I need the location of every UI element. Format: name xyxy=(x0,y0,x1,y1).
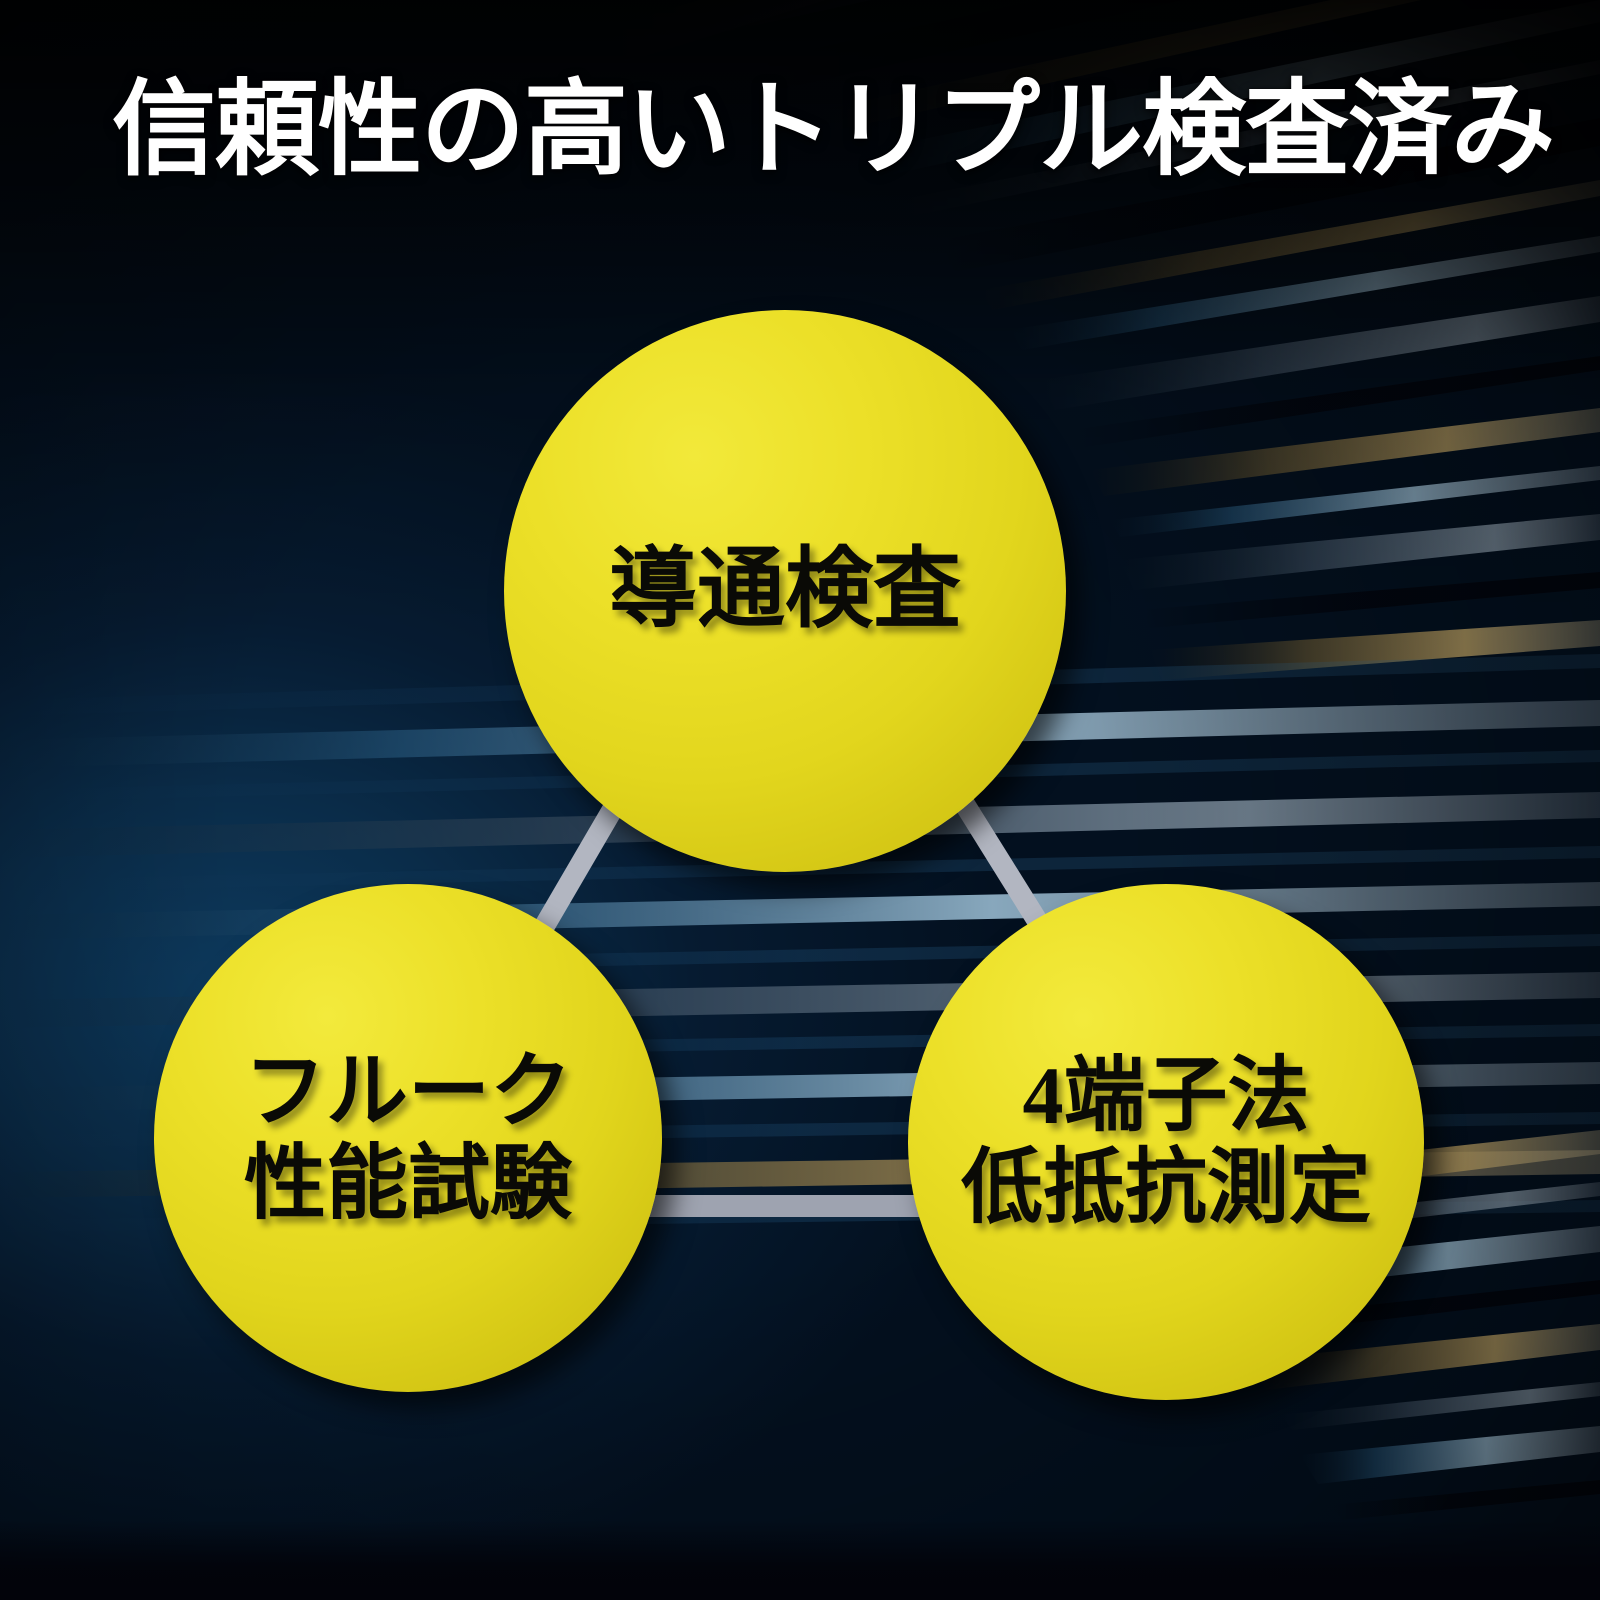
node-label-top: 導通検査 xyxy=(601,542,969,641)
node-label-right-line-2: 低抵抗測定 xyxy=(961,1142,1371,1234)
node-label-left: フルーク 性能試験 xyxy=(236,1046,580,1230)
poster-canvas: 信頼性の高いトリプル検査済み 導通検査 フルーク 性能試験 4端子法 低抵抗測定 xyxy=(0,0,1600,1600)
node-label-right-line-1: 4端子法 xyxy=(961,1050,1371,1142)
node-label-left-line-1: フルーク xyxy=(244,1046,572,1138)
node-label-top-line-1: 導通検査 xyxy=(609,542,961,641)
node-label-right: 4端子法 低抵抗測定 xyxy=(953,1050,1379,1234)
node-continuity-inspection[interactable]: 導通検査 xyxy=(504,310,1066,872)
node-label-left-line-2: 性能試験 xyxy=(244,1138,572,1230)
node-fluke-performance-test[interactable]: フルーク 性能試験 xyxy=(154,884,662,1392)
node-four-terminal-low-resistance[interactable]: 4端子法 低抵抗測定 xyxy=(908,884,1424,1400)
